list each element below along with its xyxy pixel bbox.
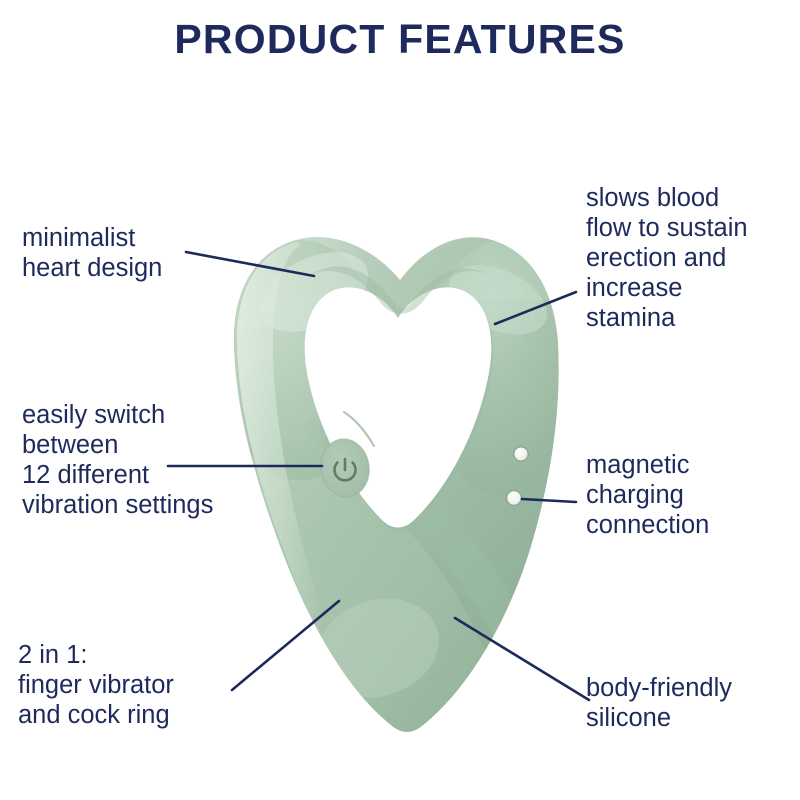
charging-pin-upper: [514, 447, 528, 461]
feature-label-magnetic-charging: magnetic charging connection: [586, 450, 709, 540]
feature-label-blood-flow: slows blood flow to sustain erection and…: [586, 183, 748, 333]
feature-label-body-friendly-silicone: body-friendly silicone: [586, 673, 732, 733]
leader-line-two-in-one: [232, 601, 339, 690]
feature-label-vibration-settings: easily switch between 12 different vibra…: [22, 400, 213, 520]
feature-label-minimalist-heart-design: minimalist heart design: [22, 223, 162, 283]
product-body: [218, 236, 600, 760]
charging-pin-lower: [507, 491, 522, 506]
product-features-infographic: PRODUCT FEATURES: [0, 0, 800, 800]
feature-label-two-in-one: 2 in 1: finger vibrator and cock ring: [18, 640, 174, 730]
